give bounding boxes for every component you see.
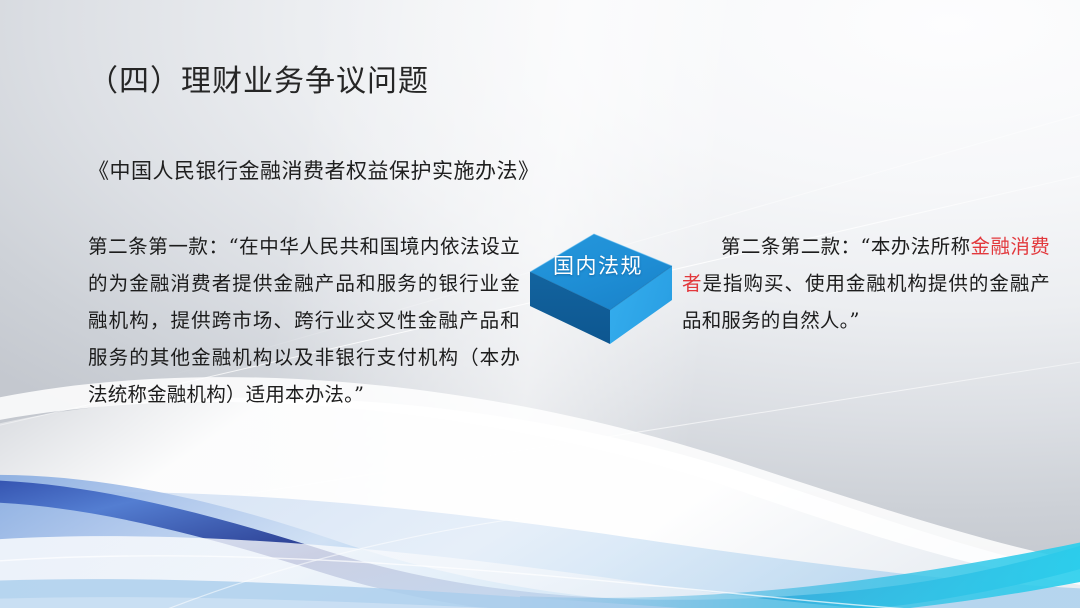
presentation-slide: （四）理财业务争议问题 《中国人民银行金融消费者权益保护实施办法》 第二条第一款…: [0, 0, 1080, 608]
clause-right-part2: 是指购买、使用金融机构提供的金融产品和服务的自然人。”: [682, 272, 1050, 332]
clause-left-paragraph: 第二条第一款：“在中华人民共和国境内依法设立的为金融消费者提供金融产品和服务的银…: [88, 228, 520, 413]
page-title: （四）理财业务争议问题: [88, 56, 429, 100]
clause-right-part1: 第二条第二款：“本办法所称: [721, 235, 971, 258]
document-reference-title: 《中国人民银行金融消费者权益保护实施办法》: [88, 155, 540, 185]
clause-right-paragraph: 第二条第二款：“本办法所称金融消费者是指购买、使用金融机构提供的金融产品和服务的…: [682, 228, 1050, 339]
cube-artwork: [512, 226, 684, 354]
domestic-regulation-cube: 国内法规: [512, 226, 684, 354]
